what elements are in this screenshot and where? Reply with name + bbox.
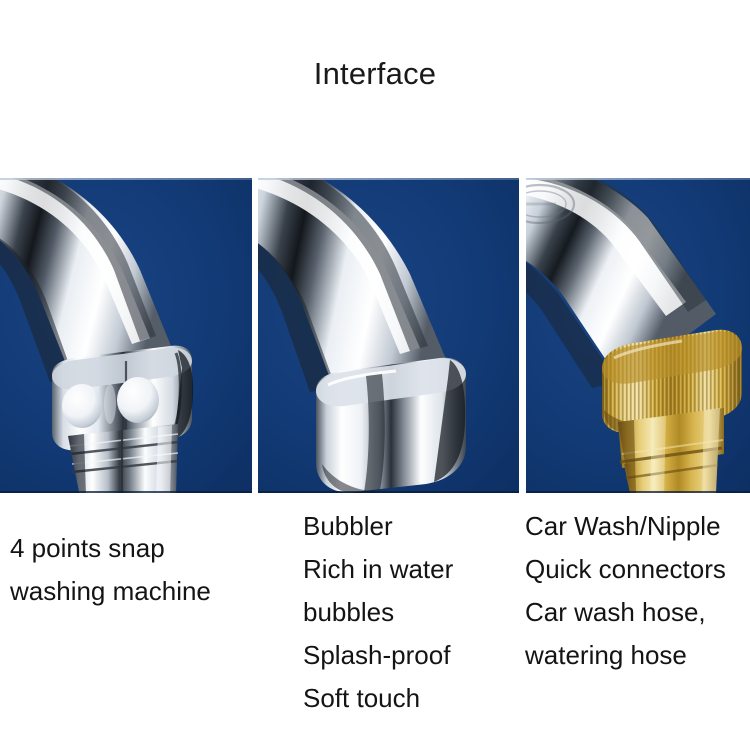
caption-column-car-wash-nipple: Car Wash/Nipple Quick connectors Car was… (525, 505, 750, 677)
caption-line: bubbles (303, 591, 518, 634)
panel-row (0, 178, 750, 493)
caption-line: Rich in water (303, 548, 518, 591)
caption-line: Quick connectors (525, 548, 750, 591)
panel-bottom-shadow (0, 491, 252, 493)
caption-column-snap-connector: 4 points snap washing machine (10, 505, 260, 613)
caption-line: Splash-proof (303, 634, 518, 677)
panel-snap-connector (0, 178, 252, 493)
caption-line: Car Wash/Nipple (525, 505, 750, 548)
faucet-spout-with-brass-quick-connector-nipple-icon (526, 178, 750, 493)
panel-bubbler (258, 178, 519, 493)
panel-top-highlight (0, 178, 252, 180)
caption-line: Bubbler (303, 505, 518, 548)
panel-top-highlight (258, 178, 519, 180)
caption-line: Car wash hose, (525, 591, 750, 634)
caption-row: 4 points snap washing machine Bubbler Ri… (0, 505, 750, 750)
panel-car-wash-nipple (526, 178, 750, 493)
faucet-spout-with-4-point-snap-connector-icon (0, 178, 252, 493)
caption-line: washing machine (10, 570, 260, 613)
product-infographic: Interface (0, 0, 750, 750)
panel-bottom-shadow (526, 491, 750, 493)
page-title: Interface (0, 56, 750, 92)
caption-line: 4 points snap (10, 527, 260, 570)
caption-column-bubbler: Bubbler Rich in water bubbles Splash-pro… (303, 505, 518, 720)
panel-top-highlight (526, 178, 750, 180)
caption-line: Soft touch (303, 677, 518, 720)
caption-line: watering hose (525, 634, 750, 677)
panel-bottom-shadow (258, 491, 519, 493)
faucet-spout-with-bubbler-aerator-icon (258, 178, 519, 493)
